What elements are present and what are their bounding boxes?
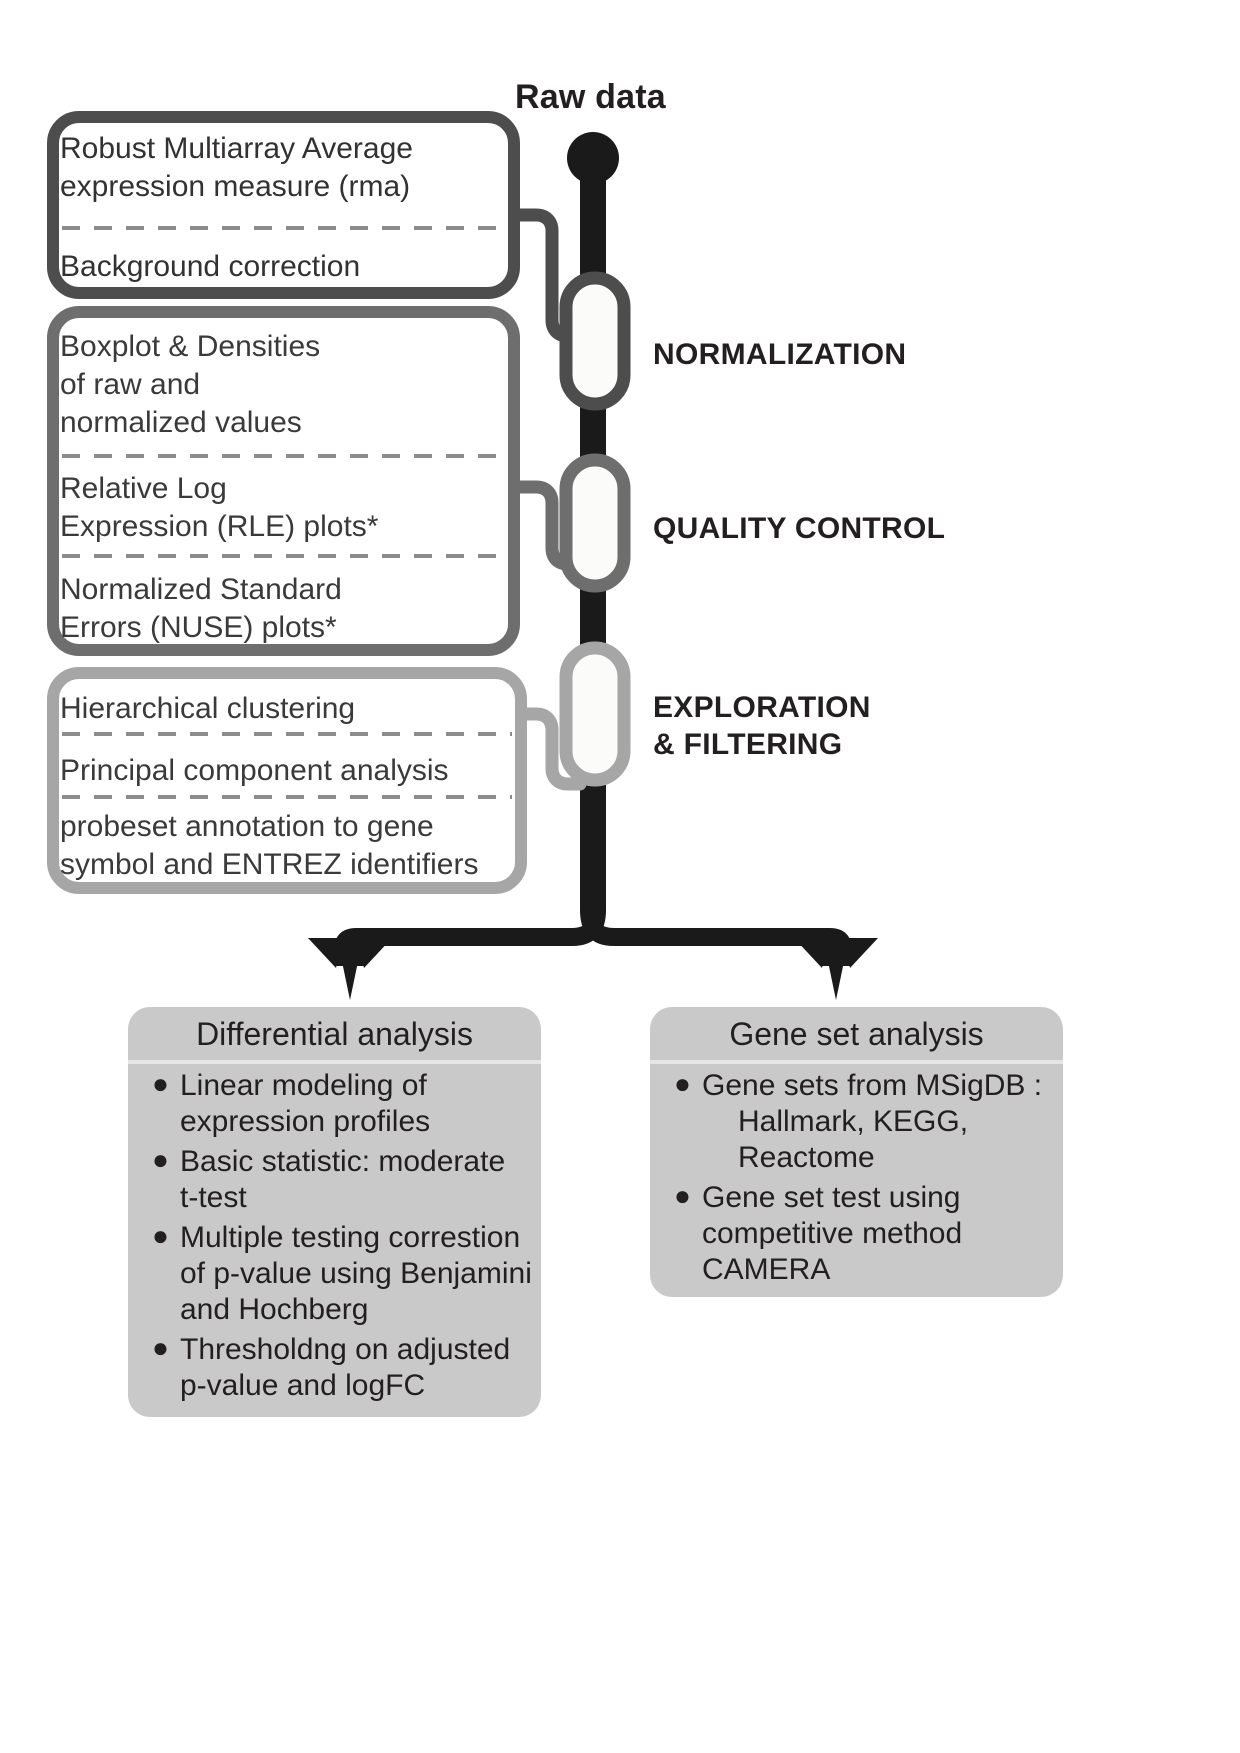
bullet-line: Reactome: [702, 1140, 1068, 1176]
card-normalization-item-1-line-0: Background correction: [60, 248, 360, 286]
bullet-line: competitive method: [702, 1216, 1068, 1252]
spine-segment-top: [580, 158, 606, 290]
capsule-quality-control: [566, 460, 624, 586]
capsule-normalization: [566, 278, 624, 404]
bullet-line: CAMERA: [702, 1252, 1068, 1288]
card-exploration-item-2-line-0: probeset annotation to gene: [60, 808, 434, 846]
card-normalization-item-0-line-1: expression measure (rma): [60, 168, 410, 206]
bullet-line: Hallmark, KEGG,: [702, 1104, 1068, 1140]
list-item: ● Multiple testing correstion of p-value…: [146, 1220, 546, 1328]
stage-label-exploration-filtering: EXPLORATION & FILTERING: [653, 690, 871, 763]
bullet-line: Multiple testing correstion: [180, 1221, 520, 1254]
card-qc-item-0-line-1: of raw and: [60, 366, 200, 404]
bullet-line: p-value and logFC: [180, 1368, 546, 1404]
card-qc-item-2-line-1: Errors (NUSE) plots*: [60, 609, 337, 647]
list-item: ● Linear modeling of expression profiles: [146, 1068, 546, 1140]
bullet-line: Basic statistic: moderate: [180, 1145, 505, 1178]
bullet-icon: ●: [152, 1067, 169, 1101]
panel-title-differential-analysis: Differential analysis: [128, 1015, 541, 1053]
card-qc-item-0-line-2: normalized values: [60, 404, 302, 442]
list-item: ● Gene set test using competitive method…: [668, 1180, 1068, 1288]
bullet-line: of p-value using Benjamini: [180, 1256, 546, 1292]
bullet-line: and Hochberg: [180, 1292, 546, 1328]
spine-segment-2: [580, 585, 606, 650]
bullet-icon: ●: [674, 1179, 691, 1213]
stage-label-normalization: NORMALIZATION: [653, 337, 906, 374]
bullet-line: Thresholdng on adjusted: [180, 1333, 510, 1366]
arrowhead-right: [794, 938, 878, 1000]
bullet-icon: ●: [152, 1219, 169, 1253]
list-item: ● Gene sets from MSigDB : Hallmark, KEGG…: [668, 1068, 1068, 1176]
bullet-line: Linear modeling of: [180, 1069, 427, 1102]
bullet-line: t-test: [180, 1180, 546, 1216]
bullet-line: Gene set test using: [702, 1181, 961, 1214]
flowchart-canvas: Raw data Robust Multiarray Average expre…: [0, 0, 1240, 1753]
card-qc-item-1-line-0: Relative Log: [60, 470, 227, 508]
card-exploration-item-2-line-1: symbol and ENTREZ identifiers: [60, 846, 478, 884]
stage-label-quality-control: QUALITY CONTROL: [653, 511, 945, 548]
bullet-icon: ●: [674, 1067, 691, 1101]
card-exploration-item-1-line-0: Principal component analysis: [60, 752, 449, 790]
card-exploration-item-0-line-0: Hierarchical clustering: [60, 690, 355, 728]
spine-segment-3: [580, 778, 606, 898]
bullet-icon: ●: [152, 1143, 169, 1177]
list-item: ● Basic statistic: moderate t-test: [146, 1144, 546, 1216]
bullet-icon: ●: [152, 1331, 169, 1365]
page-title: Raw data: [515, 78, 666, 117]
card-normalization-item-0-line-0: Robust Multiarray Average: [60, 130, 413, 168]
bullet-line: Gene sets from MSigDB :: [702, 1069, 1042, 1102]
bullet-list-differential-analysis: ● Linear modeling of expression profiles…: [146, 1068, 546, 1408]
card-qc-item-0-line-0: Boxplot & Densities: [60, 328, 320, 366]
card-qc-item-2-line-0: Normalized Standard: [60, 571, 342, 609]
arrowhead-left: [308, 938, 392, 1000]
bullet-list-gene-set-analysis: ● Gene sets from MSigDB : Hallmark, KEGG…: [668, 1068, 1068, 1292]
card-qc-item-1-line-1: Expression (RLE) plots*: [60, 508, 378, 546]
bullet-line: expression profiles: [180, 1104, 546, 1140]
capsule-exploration: [566, 648, 624, 780]
panel-title-gene-set-analysis: Gene set analysis: [650, 1015, 1063, 1053]
list-item: ● Thresholdng on adjusted p-value and lo…: [146, 1332, 546, 1404]
